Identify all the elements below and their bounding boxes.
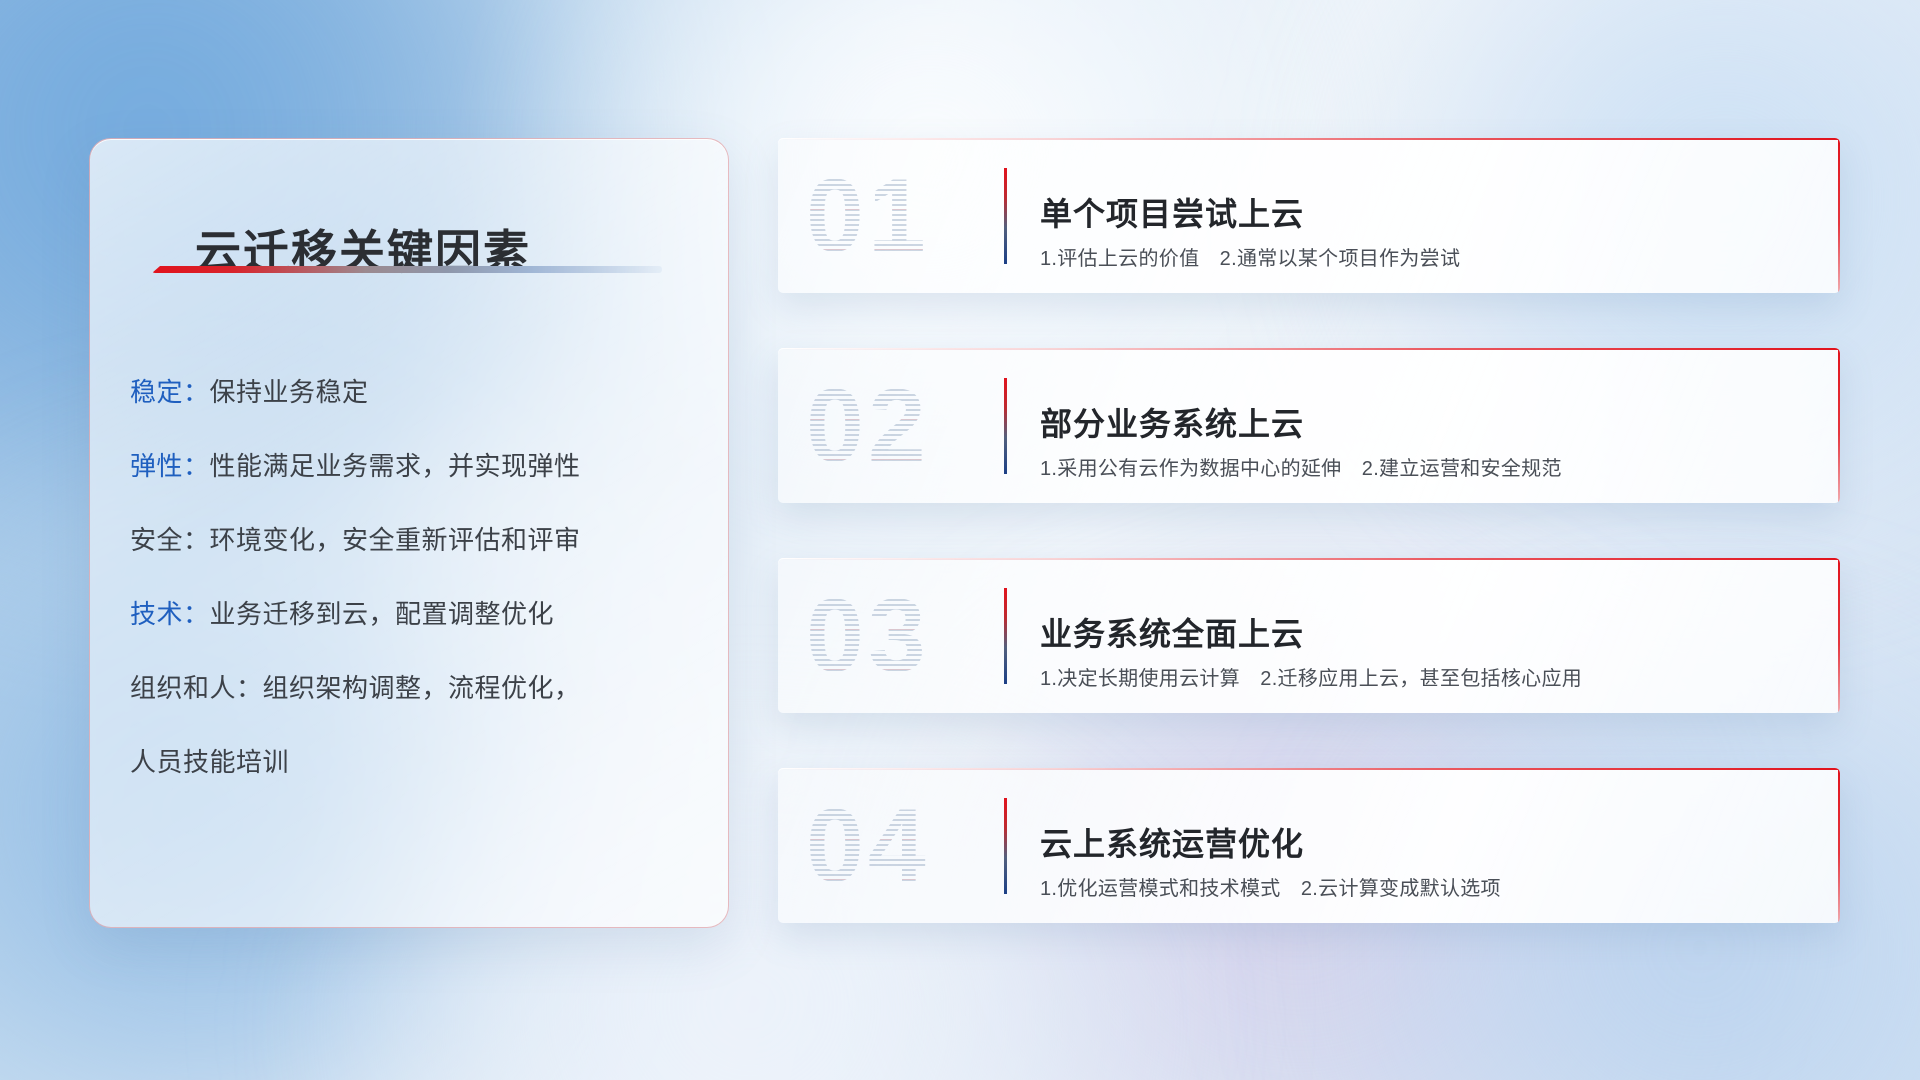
stage-number-watermark: 0202 [806, 364, 982, 488]
key-factor-label: 组织和人： [130, 673, 263, 703]
stage-card[interactable]: 0101单个项目尝试上云1.评估上云的价值 2.通常以某个项目作为尝试 [778, 138, 1840, 293]
stage-accent-bar [1004, 378, 1007, 474]
stage-number-glitch-overlay: 03 [806, 574, 982, 698]
stage-card[interactable]: 0404云上系统运营优化1.优化运营模式和技术模式 2.云计算变成默认选项 [778, 768, 1840, 923]
stage-card-title: 业务系统全面上云 [1040, 609, 1304, 655]
stage-card[interactable]: 0303业务系统全面上云1.决定长期使用云计算 2.迁移应用上云，甚至包括核心应… [778, 558, 1840, 713]
stage-number-glitch-overlay: 04 [806, 784, 982, 908]
key-factor-row: 技术：业务迁移到云，配置调整优化 [130, 577, 700, 651]
key-factor-label: 技术： [130, 599, 210, 629]
key-factor-label: 弹性： [130, 451, 210, 481]
key-factor-row: 安全：环境变化，安全重新评估和评审 [130, 503, 700, 577]
stage-card-subtitle: 1.优化运营模式和技术模式 2.云计算变成默认选项 [1040, 872, 1501, 901]
key-factor-text: 性能满足业务需求，并实现弹性 [210, 451, 581, 481]
slide-stage: 云迁移关键因素 稳定：保持业务稳定弹性：性能满足业务需求，并实现弹性安全：环境变… [0, 0, 1920, 1080]
stage-number-glitch-overlay: 01 [806, 154, 982, 278]
stage-number-watermark: 0101 [806, 154, 982, 278]
stage-card-title: 云上系统运营优化 [1040, 819, 1304, 865]
stage-card-title: 部分业务系统上云 [1040, 399, 1304, 445]
stage-card-title: 单个项目尝试上云 [1040, 189, 1304, 235]
key-factors-panel: 云迁移关键因素 稳定：保持业务稳定弹性：性能满足业务需求，并实现弹性安全：环境变… [89, 138, 729, 928]
stage-accent-bar [1004, 168, 1007, 264]
stage-number-glitch-overlay: 02 [806, 364, 982, 488]
key-factors-list: 稳定：保持业务稳定弹性：性能满足业务需求，并实现弹性安全：环境变化，安全重新评估… [130, 355, 700, 799]
stage-card[interactable]: 0202部分业务系统上云1.采用公有云作为数据中心的延伸 2.建立运营和安全规范 [778, 348, 1840, 503]
key-factor-text: 人员技能培训 [130, 747, 289, 777]
key-factor-row: 组织和人：组织架构调整，流程优化， [130, 651, 700, 725]
key-factor-text: 业务迁移到云，配置调整优化 [210, 599, 555, 629]
key-factor-label: 稳定： [130, 377, 210, 407]
key-factor-row: 人员技能培训 [130, 725, 700, 799]
key-factor-label: 安全： [130, 525, 210, 555]
stage-card-subtitle: 1.评估上云的价值 2.通常以某个项目作为尝试 [1040, 242, 1460, 271]
stage-cards-list: 0101单个项目尝试上云1.评估上云的价值 2.通常以某个项目作为尝试0202部… [778, 138, 1840, 978]
key-factor-text: 组织架构调整，流程优化， [263, 673, 581, 703]
key-factor-row: 稳定：保持业务稳定 [130, 355, 700, 429]
stage-number-watermark: 0404 [806, 784, 982, 908]
key-factor-row: 弹性：性能满足业务需求，并实现弹性 [130, 429, 700, 503]
stage-card-subtitle: 1.采用公有云作为数据中心的延伸 2.建立运营和安全规范 [1040, 452, 1562, 481]
title-underline-gradient [152, 266, 662, 273]
stage-accent-bar [1004, 798, 1007, 894]
stage-accent-bar [1004, 588, 1007, 684]
key-factor-text: 保持业务稳定 [210, 377, 369, 407]
stage-number-watermark: 0303 [806, 574, 982, 698]
stage-card-subtitle: 1.决定长期使用云计算 2.迁移应用上云，甚至包括核心应用 [1040, 662, 1582, 691]
key-factor-text: 环境变化，安全重新评估和评审 [210, 525, 581, 555]
